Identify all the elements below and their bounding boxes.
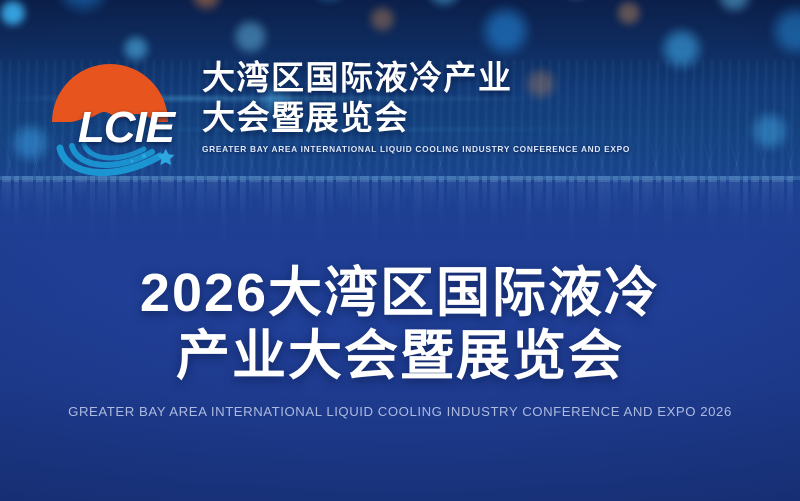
lcie-logo[interactable]: LCIE bbox=[48, 52, 196, 178]
logo-wordmark-wrap: LCIE bbox=[56, 106, 196, 150]
logo-wordmark: LCIE bbox=[78, 103, 174, 152]
hero-subtitle: GREATER BAY AREA INTERNATIONAL LIQUID CO… bbox=[0, 404, 800, 419]
hero-title-line-2: 产业大会暨展览会 bbox=[0, 325, 800, 388]
header-title-line-1: 大湾区国际液冷产业 bbox=[202, 58, 630, 98]
hero-title-line-1: 2026大湾区国际液冷 bbox=[0, 262, 800, 325]
event-poster: LCIE 大湾区国际液冷产业 大会暨展览会 GREATER BAY AREA I… bbox=[0, 0, 800, 501]
header-subtitle: GREATER BAY AREA INTERNATIONAL LIQUID CO… bbox=[202, 144, 630, 154]
header-text-block: 大湾区国际液冷产业 大会暨展览会 GREATER BAY AREA INTERN… bbox=[202, 52, 630, 154]
header-title-line-2: 大会暨展览会 bbox=[202, 98, 630, 138]
event-logo-lockup: LCIE 大湾区国际液冷产业 大会暨展览会 GREATER BAY AREA I… bbox=[48, 52, 568, 180]
hero-block: 2026大湾区国际液冷 产业大会暨展览会 GREATER BAY AREA IN… bbox=[0, 262, 800, 419]
